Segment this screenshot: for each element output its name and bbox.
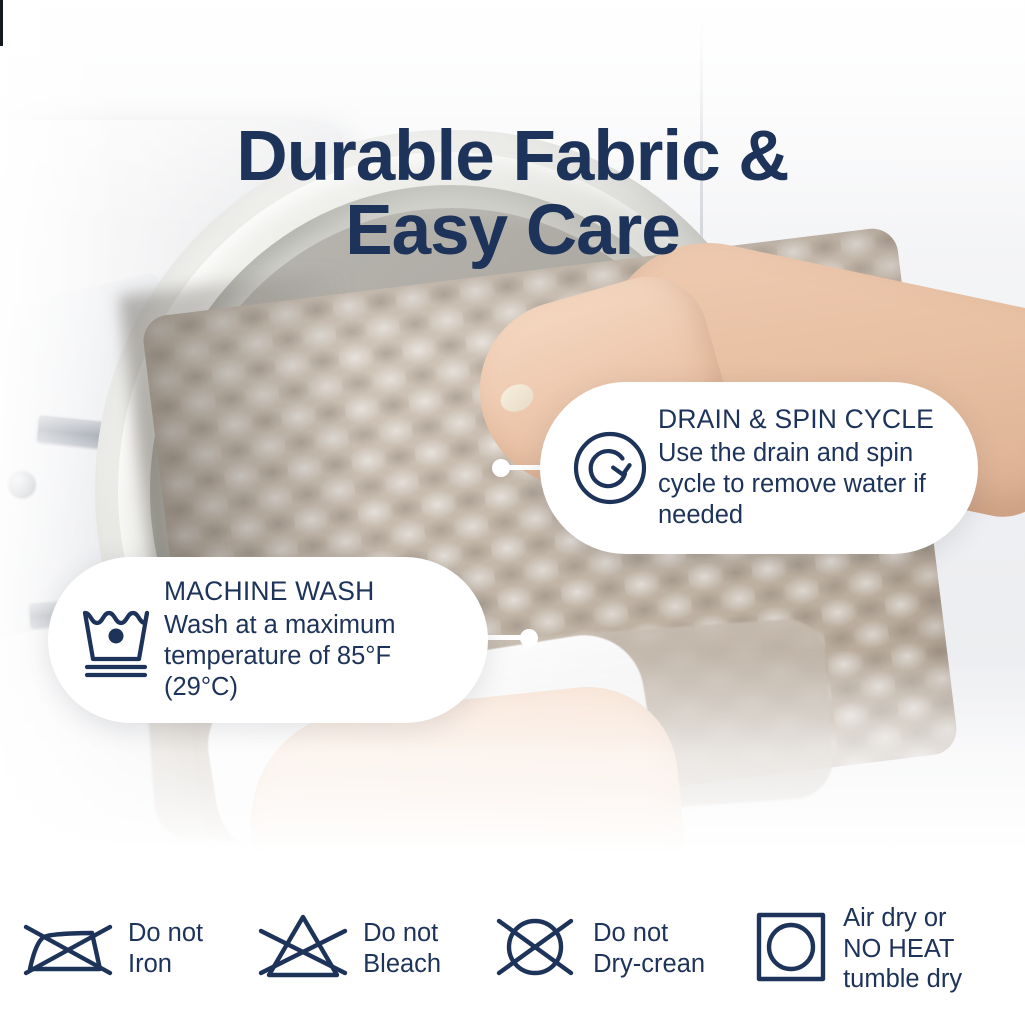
care-symbol-do-not-iron: Do not Iron [22,911,203,988]
care-symbol-label: Air dry or NO HEAT tumble dry [843,903,962,995]
callout-card-body: Use the drain and spin cycle to remove w… [658,438,952,531]
care-symbol-do-not-dry-clean: Do not Dry-crean [491,911,705,988]
callout-card-title: MACHINE WASH [164,577,464,607]
care-symbols-row: Do not Iron Do not Bleach Do not Dry [0,874,1025,1024]
care-symbol-label: Do not Dry-crean [593,918,705,979]
canvas-edge-marker [0,0,3,46]
circle-crossed-icon [491,911,579,988]
callout-card-drain-spin-cycle[interactable]: DRAIN & SPIN CYCLE Use the drain and spi… [540,382,978,554]
care-symbol-do-not-bleach: Do not Bleach [257,911,441,988]
callout-card-text: MACHINE WASH Wash at a maximum temperatu… [164,577,464,703]
callout-card-title: DRAIN & SPIN CYCLE [658,405,952,435]
tumble-dry-icon [753,909,829,990]
page-title-line-2: Easy Care [0,194,1025,269]
care-symbol-label: Do not Iron [128,918,203,979]
callout-card-machine-wash[interactable]: MACHINE WASH Wash at a maximum temperatu… [48,557,488,723]
callout-card-text: DRAIN & SPIN CYCLE Use the drain and spi… [658,405,952,531]
refresh-circle-icon [562,430,658,506]
callout-card-body: Wash at a maximum temperature of 85°F (2… [164,610,464,703]
page-title: Durable Fabric & Easy Care [0,120,1025,269]
iron-crossed-icon [22,911,114,988]
connector-dot [520,629,538,647]
triangle-crossed-icon [257,911,349,988]
page-title-line-1: Durable Fabric & [0,120,1025,195]
care-symbol-label: Do not Bleach [363,918,441,979]
infographic-canvas: Durable Fabric & Easy Care DRAIN & SPIN … [0,0,1025,1024]
wash-tub-icon [68,599,164,681]
care-symbol-air-dry-no-heat: Air dry or NO HEAT tumble dry [753,903,962,995]
